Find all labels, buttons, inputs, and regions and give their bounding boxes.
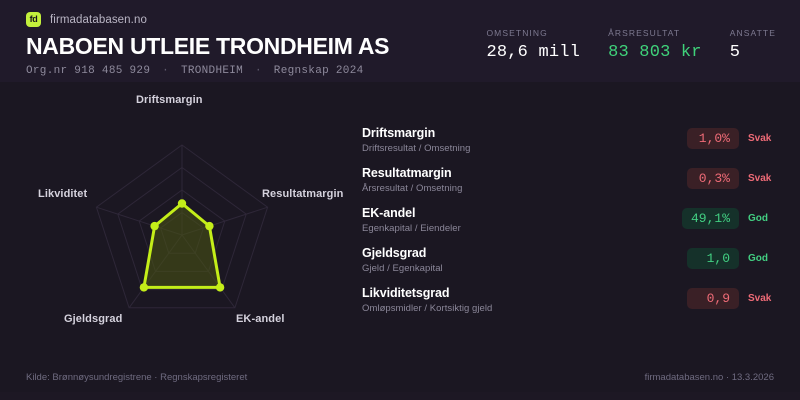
stat-arsresultat: ÅRSRESULTAT 83 803 kr: [580, 28, 702, 62]
radar-data-polygon: [144, 204, 220, 288]
radar-chart-svg: [0, 82, 350, 354]
stat-omsetning: OMSETNING 28,6 mill: [486, 28, 580, 62]
company-orgnr: Org.nr 918 485 929: [26, 65, 150, 77]
footer-credit: firmadatabasen.no · 13.3.2026: [645, 372, 774, 383]
header: fd firmadatabasen.no NABOEN UTLEIE TROND…: [0, 0, 800, 82]
footer-source: Kilde: Brønnøysundregistrene · Regnskaps…: [26, 372, 247, 383]
stat-label: ÅRSRESULTAT: [608, 28, 702, 38]
metric-value-badge: 0,9: [687, 288, 739, 309]
metric-row[interactable]: Gjeldsgrad Gjeld / Egenkapital 1,0 God: [362, 246, 782, 286]
stat-label: OMSETNING: [486, 28, 580, 38]
status-badge: God: [748, 253, 782, 264]
metric-value-badge: 49,1%: [682, 208, 739, 229]
stat-ansatte: ANSATTE 5: [702, 28, 776, 62]
metric-right: 0,3% Svak: [687, 168, 782, 189]
metric-row[interactable]: Likviditetsgrad Omløpsmidler / Kortsikti…: [362, 286, 782, 326]
brand-site-name: firmadatabasen.no: [50, 14, 147, 26]
status-badge: Svak: [748, 133, 782, 144]
brand[interactable]: fd firmadatabasen.no: [26, 12, 774, 27]
metrics-list: Driftsmargin Driftsresultat / Omsetning …: [362, 126, 782, 326]
stat-value: 5: [730, 43, 776, 62]
stat-value: 28,6 mill: [486, 43, 580, 62]
radar-axis-label-ek-andel: EK-andel: [236, 313, 284, 325]
status-badge: Svak: [748, 293, 782, 304]
footer: Kilde: Brønnøysundregistrene · Regnskaps…: [0, 362, 800, 392]
radar-chart: Driftsmargin Resultatmargin Likviditet E…: [0, 82, 350, 354]
radar-data-point: [216, 283, 224, 291]
company-accounting-year: Regnskap 2024: [274, 65, 364, 77]
metric-row[interactable]: EK-andel Egenkapital / Eiendeler 49,1% G…: [362, 206, 782, 246]
radar-axis-label-likviditet: Likviditet: [38, 188, 87, 200]
metric-right: 1,0 God: [687, 248, 782, 269]
firmadatabasen-logo-icon: fd: [26, 12, 41, 27]
metric-value-badge: 0,3%: [687, 168, 739, 189]
radar-axis-label-gjeldsgrad: Gjeldsgrad: [64, 313, 122, 325]
radar-axis-label-driftsmargin: Driftsmargin: [136, 94, 203, 106]
bottom-accent-bar: [0, 392, 800, 400]
company-meta: Org.nr 918 485 929 · TRONDHEIM · Regnska…: [26, 65, 774, 77]
radar-data-point: [150, 222, 158, 230]
stat-label: ANSATTE: [730, 28, 776, 38]
meta-separator-1: ·: [157, 65, 174, 77]
status-badge: Svak: [748, 173, 782, 184]
status-badge: God: [748, 213, 782, 224]
radar-data-point: [205, 222, 213, 230]
radar-data-point: [178, 199, 186, 207]
metric-right: 1,0% Svak: [687, 128, 782, 149]
metric-row[interactable]: Resultatmargin Årsresultat / Omsetning 0…: [362, 166, 782, 206]
metric-value-badge: 1,0: [687, 248, 739, 269]
company-city: TRONDHEIM: [181, 65, 243, 77]
metric-row[interactable]: Driftsmargin Driftsresultat / Omsetning …: [362, 126, 782, 166]
metric-right: 0,9 Svak: [687, 288, 782, 309]
infographic-card: fd firmadatabasen.no NABOEN UTLEIE TROND…: [0, 0, 800, 400]
metric-right: 49,1% God: [682, 208, 782, 229]
stat-value: 83 803 kr: [608, 43, 702, 62]
header-stats: OMSETNING 28,6 mill ÅRSRESULTAT 83 803 k…: [486, 28, 776, 62]
radar-data-point: [140, 283, 148, 291]
radar-axis-label-resultatmargin: Resultatmargin: [262, 188, 343, 200]
meta-separator-2: ·: [250, 65, 267, 77]
metric-value-badge: 1,0%: [687, 128, 739, 149]
